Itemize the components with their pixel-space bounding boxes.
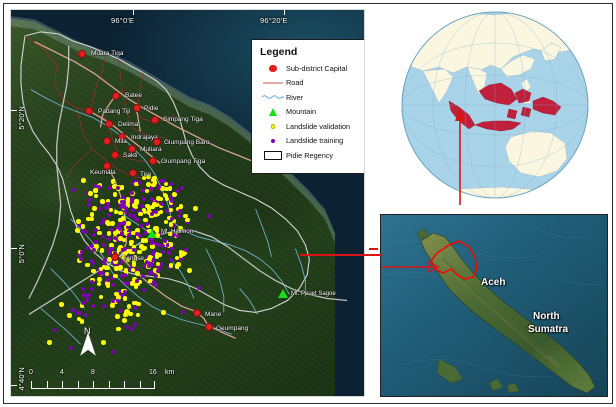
landslide-training-point xyxy=(107,237,111,241)
landslide-validation-point xyxy=(113,192,118,197)
legend-label-validation: Landslide validation xyxy=(286,122,350,131)
axis-label-top-1: 96°0'E xyxy=(111,16,134,25)
scale-bar-tick xyxy=(93,381,94,389)
landslide-training-point xyxy=(181,310,185,314)
axis-label-left-1: 5°20'N xyxy=(17,106,26,130)
sub-district-capital-marker[interactable] xyxy=(78,50,86,58)
landslide-training-point xyxy=(119,309,123,313)
landslide-validation-point xyxy=(169,222,174,227)
sub-district-capital-marker[interactable] xyxy=(85,107,93,115)
landslide-validation-point xyxy=(193,206,198,211)
legend-row-road: Road xyxy=(260,76,365,91)
landslide-training-point xyxy=(81,293,85,297)
scale-tick-16: 16 xyxy=(149,369,157,376)
landslide-training-point xyxy=(111,350,115,354)
landslide-validation-point xyxy=(137,250,142,255)
landslide-validation-point xyxy=(176,262,181,267)
landslide-validation-point xyxy=(130,281,135,286)
legend-row-regency: Pidie Regency xyxy=(260,148,365,163)
landslide-training-point xyxy=(124,281,128,285)
sub-district-capital-label: Glumpang Tiga xyxy=(161,158,205,165)
landslide-validation-point xyxy=(76,219,81,224)
sub-district-capital-marker[interactable] xyxy=(153,138,161,146)
sub-district-capital-marker[interactable] xyxy=(112,92,120,100)
legend-label-training: Landslide training xyxy=(286,136,343,145)
legend-row-training: Landslide training xyxy=(260,134,365,149)
road-line-icon xyxy=(260,82,286,84)
landslide-validation-point xyxy=(187,268,192,273)
legend-label-regency: Pidie Regency xyxy=(286,151,333,160)
landslide-validation-point xyxy=(106,222,111,227)
landslide-validation-point xyxy=(47,340,52,345)
sub-district-capital-marker[interactable] xyxy=(105,120,113,128)
landslide-validation-point xyxy=(91,269,96,274)
legend-label-mountain: Mountain xyxy=(286,107,316,116)
landslide-training-point xyxy=(85,298,89,302)
landslide-validation-point xyxy=(127,304,132,309)
landslide-training-point xyxy=(113,236,117,240)
landslide-validation-point xyxy=(101,340,106,345)
sub-district-capital-label: Mutiara xyxy=(140,146,162,153)
landslide-training-point xyxy=(107,186,111,190)
sumatra-graphic xyxy=(381,215,608,397)
sub-district-capital-label: Padang Tiji xyxy=(98,108,130,115)
landslide-training-point xyxy=(157,185,161,189)
landslide-validation-point xyxy=(152,202,157,207)
landslide-validation-point xyxy=(157,253,162,258)
landslide-validation-point xyxy=(141,238,146,243)
landslide-validation-point xyxy=(118,236,123,241)
north-arrow: N xyxy=(77,328,99,362)
landslide-training-point xyxy=(162,179,166,183)
landslide-training-point xyxy=(138,181,142,185)
landslide-validation-point xyxy=(126,221,131,226)
white-box-icon xyxy=(260,151,286,160)
landslide-training-point xyxy=(123,273,127,277)
legend-row-mountain: Mountain xyxy=(260,105,365,120)
landslide-training-point xyxy=(177,214,181,218)
landslide-validation-point xyxy=(183,214,188,219)
landslide-validation-point xyxy=(134,201,139,206)
scale-bar-tick xyxy=(140,381,141,389)
landslide-training-point xyxy=(149,187,153,191)
sub-district-capital-marker[interactable] xyxy=(151,116,159,124)
landslide-training-point xyxy=(71,188,75,192)
scale-bar-tick xyxy=(78,381,79,389)
legend-row-capital: Sub-district Capital xyxy=(260,61,365,76)
landslide-training-point xyxy=(122,205,126,209)
landslide-validation-point xyxy=(118,265,123,270)
landslide-training-point xyxy=(165,209,169,213)
landslide-training-point xyxy=(154,283,158,287)
landslide-training-point xyxy=(79,257,83,261)
tick-top-2 xyxy=(284,10,285,15)
landslide-training-point xyxy=(94,240,98,244)
landslide-training-point xyxy=(84,313,88,317)
landslide-training-point xyxy=(169,182,173,186)
landslide-training-point xyxy=(154,274,158,278)
legend-title: Legend xyxy=(260,46,365,58)
sub-district-capital-label: Mila xyxy=(115,138,127,145)
landslide-training-point xyxy=(197,286,201,290)
landslide-validation-point xyxy=(169,263,174,268)
landslide-validation-point xyxy=(67,313,72,318)
scale-bar-tick xyxy=(62,381,63,389)
landslide-validation-point xyxy=(80,319,85,324)
sub-district-capital-label: Muara Tiga xyxy=(91,50,124,57)
landslide-training-point xyxy=(100,221,104,225)
sub-district-capital-label: Simpang Tiga xyxy=(163,116,203,123)
landslide-validation-point xyxy=(92,206,97,211)
landslide-training-point xyxy=(133,306,137,310)
landslide-training-point xyxy=(90,259,94,263)
landslide-validation-point xyxy=(123,296,128,301)
map-to-inset-connector-tick xyxy=(369,248,378,250)
landslide-training-point xyxy=(110,247,114,251)
mountain-marker[interactable] xyxy=(278,289,288,298)
landslide-training-point xyxy=(87,203,91,207)
landslide-training-point xyxy=(102,243,106,247)
sub-district-capital-label: Keumala xyxy=(90,169,116,176)
sub-district-capital-marker[interactable] xyxy=(205,323,213,331)
landslide-training-point xyxy=(145,222,149,226)
landslide-training-point xyxy=(98,207,102,211)
landslide-training-point xyxy=(132,248,136,252)
landslide-training-point xyxy=(90,280,94,284)
sub-district-capital-marker[interactable] xyxy=(111,151,119,159)
landslide-validation-point xyxy=(185,218,190,223)
landslide-training-point xyxy=(184,248,188,252)
map-to-inset-connector-line xyxy=(300,254,382,256)
landslide-training-point xyxy=(130,197,134,201)
inset-label-aceh: Aceh xyxy=(481,277,505,288)
landslide-validation-point xyxy=(97,231,102,236)
sub-district-capital-marker[interactable] xyxy=(149,157,157,165)
landslide-training-point xyxy=(142,288,146,292)
landslide-validation-point xyxy=(111,179,116,184)
figure-root: 96°0'E 96°20'E 5°20'N 5°0'N 4°40'N Muara… xyxy=(0,0,616,407)
landslide-training-point xyxy=(154,210,158,214)
landslide-validation-point xyxy=(147,257,152,262)
sub-district-capital-marker[interactable] xyxy=(133,104,141,112)
sumatra-inset-panel[interactable]: Aceh North Sumatra xyxy=(380,214,608,397)
sub-district-capital-label: Geumpang xyxy=(216,325,248,332)
mountain-marker[interactable] xyxy=(147,229,157,238)
landslide-training-point xyxy=(141,274,145,278)
landslide-training-point xyxy=(104,206,108,210)
sub-district-capital-label: Sakti xyxy=(123,152,137,159)
sub-district-capital-marker[interactable] xyxy=(193,309,201,317)
sub-district-capital-label: Pidie xyxy=(144,105,158,112)
landslide-validation-point xyxy=(81,178,86,183)
landslide-training-point xyxy=(81,301,85,305)
globe-graphic xyxy=(383,9,608,205)
landslide-training-point xyxy=(107,213,111,217)
yellow-dot-icon xyxy=(260,124,286,129)
landslide-training-point xyxy=(180,186,184,190)
main-map-panel[interactable]: 96°0'E 96°20'E 5°20'N 5°0'N 4°40'N Muara… xyxy=(10,9,365,397)
landslide-validation-point xyxy=(97,277,102,282)
landslide-training-point xyxy=(69,346,73,350)
landslide-training-point xyxy=(90,287,94,291)
landslide-training-point xyxy=(53,328,57,332)
landslide-training-point xyxy=(120,232,124,236)
landslide-training-point xyxy=(111,299,115,303)
landslide-training-point xyxy=(142,197,146,201)
mountain-label: Mt. Peuet Sagoe xyxy=(291,291,336,297)
inset-label-north-sumatra-2: Sumatra xyxy=(528,324,568,335)
landslide-validation-point xyxy=(85,263,90,268)
landslide-training-point xyxy=(100,271,104,275)
legend-label-road: Road xyxy=(286,78,303,87)
landslide-validation-point xyxy=(161,310,166,315)
landslide-training-point xyxy=(88,198,92,202)
legend-row-validation: Landslide validation xyxy=(260,119,365,134)
landslide-validation-point xyxy=(132,262,137,267)
landslide-validation-point xyxy=(93,188,98,193)
scale-tick-8: 8 xyxy=(91,369,95,376)
legend-label-river: River xyxy=(286,93,303,102)
sub-district-capital-label: Mane xyxy=(205,311,221,318)
landslide-training-point xyxy=(207,214,211,218)
sub-district-capital-label: Glumpang Baro xyxy=(164,139,210,146)
landslide-validation-point xyxy=(88,191,93,196)
green-triangle-icon xyxy=(260,108,286,116)
scale-tick-0: 0 xyxy=(29,369,33,376)
landslide-training-point xyxy=(117,223,121,227)
landslide-training-point xyxy=(120,200,124,204)
scale-bar-tick xyxy=(47,381,48,389)
landslide-training-point xyxy=(157,266,161,270)
inset-label-north-sumatra-1: North xyxy=(533,311,560,322)
landslide-training-point xyxy=(128,213,132,217)
axis-label-left-3: 4°40'N xyxy=(17,367,26,391)
landslide-training-point xyxy=(152,250,156,254)
tick-top-1 xyxy=(133,10,134,15)
purple-dot-icon xyxy=(260,139,286,143)
landslide-validation-point xyxy=(135,271,140,276)
sub-district-capital-marker[interactable] xyxy=(129,169,137,177)
landslide-validation-point xyxy=(146,182,151,187)
red-circle-icon xyxy=(260,65,286,73)
scale-bar-tick xyxy=(124,381,125,389)
landslide-validation-point xyxy=(172,192,177,197)
landslide-validation-point xyxy=(139,244,144,249)
axis-label-top-2: 96°20'E xyxy=(260,16,288,25)
landslide-validation-point xyxy=(100,248,105,253)
globe-inset-panel[interactable] xyxy=(383,9,608,205)
landslide-training-point xyxy=(170,199,174,203)
landslide-training-point xyxy=(178,209,182,213)
landslide-training-point xyxy=(175,189,179,193)
mountain-label: Mt. Halimon xyxy=(161,229,193,235)
sub-district-capital-marker[interactable] xyxy=(103,137,111,145)
landslide-validation-point xyxy=(115,314,120,319)
scale-tick-4: 4 xyxy=(60,369,64,376)
scale-bar: 0 4 8 16 km xyxy=(31,370,159,390)
sub-district-capital-label: Tiro xyxy=(140,171,151,178)
landslide-validation-point xyxy=(75,228,80,233)
landslide-validation-point xyxy=(122,318,127,323)
sub-district-capital-marker[interactable] xyxy=(111,253,119,261)
landslide-training-point xyxy=(170,217,174,221)
landslide-training-point xyxy=(169,258,173,262)
axis-label-left-2: 5°0'N xyxy=(17,244,26,263)
sub-district-capital-label: Tangse xyxy=(123,255,144,262)
landslide-validation-point xyxy=(116,327,121,332)
legend-label-capital: Sub-district Capital xyxy=(286,64,347,73)
legend-box: Legend Sub-district Capital Road River xyxy=(251,39,365,174)
landslide-training-point xyxy=(111,283,115,287)
landslide-training-point xyxy=(81,229,85,233)
sub-district-capital-label: Delima xyxy=(118,121,138,128)
legend-row-river: River xyxy=(260,90,365,105)
landslide-training-point xyxy=(78,311,82,315)
scale-bar-tick xyxy=(109,381,110,389)
landslide-training-point xyxy=(149,262,153,266)
north-arrow-label: N xyxy=(84,326,91,336)
landslide-validation-point xyxy=(110,221,115,226)
river-line-icon xyxy=(260,94,286,100)
landslide-validation-point xyxy=(59,302,64,307)
landslide-validation-point xyxy=(107,231,112,236)
sub-district-capital-label: Batee xyxy=(125,92,142,99)
scale-unit: km xyxy=(165,369,174,376)
landslide-training-point xyxy=(132,214,136,218)
